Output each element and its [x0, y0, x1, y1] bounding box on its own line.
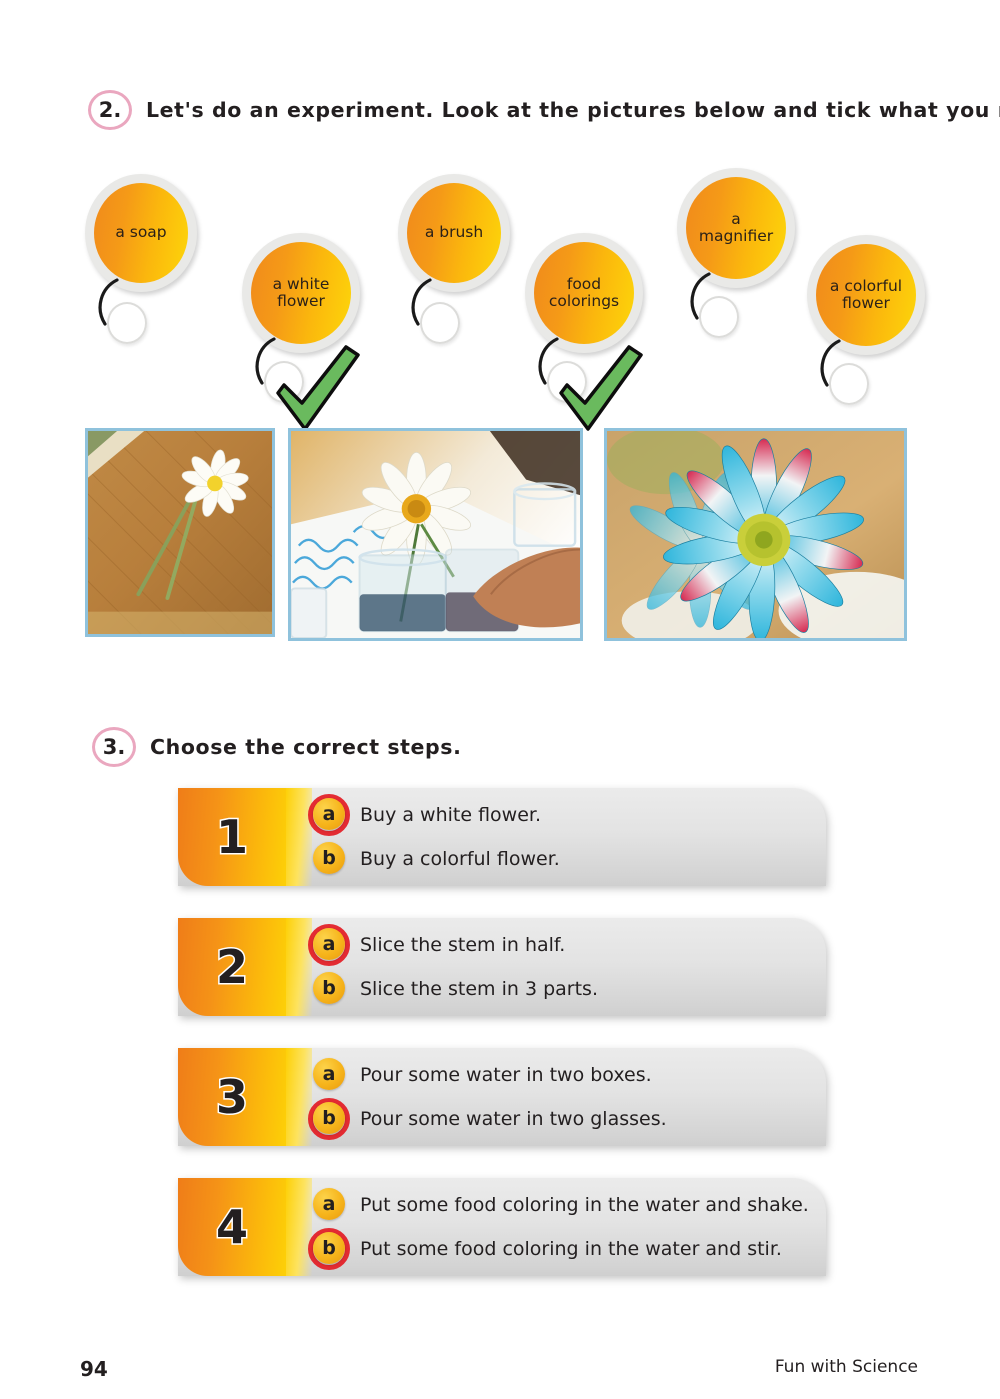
- step-number: 2: [216, 940, 248, 994]
- step-options: a Slice the stem in half. b Slice the st…: [308, 918, 818, 1016]
- question-3-prompt: Choose the correct steps.: [150, 735, 462, 759]
- item-label: a magnifier: [692, 211, 780, 246]
- option-letter-badge[interactable]: a: [308, 924, 350, 966]
- option-text: Pour some water in two boxes.: [360, 1064, 652, 1086]
- step-card: 3 a Pour some water in two boxes. b Pour…: [178, 1048, 838, 1146]
- steps-list: 1 a Buy a white flower. b Buy a colorful…: [178, 788, 838, 1308]
- option-letter-badge[interactable]: a: [308, 794, 350, 836]
- option-letter-badge[interactable]: b: [308, 838, 350, 880]
- photo-dyed-flower: [604, 428, 907, 641]
- option-letter-badge[interactable]: b: [308, 968, 350, 1010]
- bubble-disc: food colorings: [534, 242, 634, 344]
- option-letter-badge[interactable]: b: [308, 1228, 350, 1270]
- option-text: Put some food coloring in the water and …: [360, 1238, 782, 1260]
- question-2-number: 2.: [88, 90, 132, 130]
- option-row[interactable]: b Buy a colorful flower.: [308, 837, 818, 881]
- photo-3-artwork: [607, 431, 904, 638]
- worksheet-page: 2. Let's do an experiment. Look at the p…: [0, 0, 1000, 1399]
- option-letter: a: [313, 1058, 345, 1090]
- option-text: Slice the stem in half.: [360, 934, 565, 956]
- option-letter-badge[interactable]: a: [308, 1184, 350, 1226]
- option-text: Pour some water in two glasses.: [360, 1108, 667, 1130]
- photo-stems-in-jars: [288, 428, 583, 641]
- tick-checkbox[interactable]: [107, 302, 147, 344]
- tick-checkbox[interactable]: [420, 302, 460, 344]
- item-label: food colorings: [540, 276, 628, 311]
- photo-flower-on-board: [85, 428, 275, 637]
- option-letter: b: [313, 842, 345, 874]
- item-label: a brush: [425, 224, 483, 241]
- question-2-prompt: Let's do an experiment. Look at the pict…: [146, 98, 1000, 122]
- option-letter: a: [313, 928, 345, 960]
- step-number-badge: 3: [178, 1048, 286, 1146]
- step-options: a Put some food coloring in the water an…: [308, 1178, 818, 1276]
- book-title: Fun with Science: [775, 1357, 918, 1377]
- option-letter-badge[interactable]: a: [308, 1054, 350, 1096]
- bubble-disc: a colorful flower: [816, 244, 916, 346]
- question-2-heading: 2. Let's do an experiment. Look at the p…: [88, 90, 1000, 130]
- option-row[interactable]: b Slice the stem in 3 parts.: [308, 967, 818, 1011]
- bubble-disc: a brush: [407, 183, 501, 283]
- tick-checkbox[interactable]: [699, 296, 739, 338]
- step-card: 1 a Buy a white flower. b Buy a colorful…: [178, 788, 838, 886]
- option-row[interactable]: a Slice the stem in half.: [308, 923, 818, 967]
- step-number-badge: 1: [178, 788, 286, 886]
- bubble-disc: a soap: [94, 183, 188, 283]
- tick-checkbox[interactable]: [264, 361, 304, 403]
- option-text: Buy a colorful flower.: [360, 848, 560, 870]
- option-letter: a: [313, 798, 345, 830]
- option-text: Buy a white flower.: [360, 804, 541, 826]
- option-letter: b: [313, 1102, 345, 1134]
- option-text: Slice the stem in 3 parts.: [360, 978, 598, 1000]
- tick-checkbox[interactable]: [547, 361, 587, 403]
- photo-2-artwork: [291, 431, 580, 638]
- item-label: a white flower: [257, 276, 345, 311]
- item-label: a soap: [115, 224, 166, 241]
- step-options: a Pour some water in two boxes. b Pour s…: [308, 1048, 818, 1146]
- step-number-badge: 2: [178, 918, 286, 1016]
- option-row[interactable]: a Put some food coloring in the water an…: [308, 1183, 818, 1227]
- option-row[interactable]: b Pour some water in two glasses.: [308, 1097, 818, 1141]
- option-letter: b: [313, 1232, 345, 1264]
- bubble-disc: a magnifier: [686, 177, 786, 279]
- option-row[interactable]: a Buy a white flower.: [308, 793, 818, 837]
- option-letter: a: [313, 1188, 345, 1220]
- page-number: 94: [80, 1357, 108, 1381]
- option-row[interactable]: a Pour some water in two boxes.: [308, 1053, 818, 1097]
- option-text: Put some food coloring in the water and …: [360, 1194, 809, 1216]
- question-3-heading: 3. Choose the correct steps.: [92, 727, 462, 767]
- item-bubble-group: a soap a white flower a bru: [85, 160, 935, 410]
- step-card: 4 a Put some food coloring in the water …: [178, 1178, 838, 1276]
- step-options: a Buy a white flower. b Buy a colorful f…: [308, 788, 818, 886]
- question-3-number: 3.: [92, 727, 136, 767]
- item-label: a colorful flower: [822, 278, 910, 313]
- step-number: 4: [216, 1200, 248, 1254]
- step-number-badge: 4: [178, 1178, 286, 1276]
- option-row[interactable]: b Put some food coloring in the water an…: [308, 1227, 818, 1271]
- step-card: 2 a Slice the stem in half. b Slice the …: [178, 918, 838, 1016]
- photo-1-artwork: [88, 431, 272, 634]
- option-letter: b: [313, 972, 345, 1004]
- tick-checkbox[interactable]: [829, 363, 869, 405]
- option-letter-badge[interactable]: b: [308, 1098, 350, 1140]
- bubble-disc: a white flower: [251, 242, 351, 344]
- step-number: 3: [216, 1070, 248, 1124]
- step-number: 1: [216, 810, 248, 864]
